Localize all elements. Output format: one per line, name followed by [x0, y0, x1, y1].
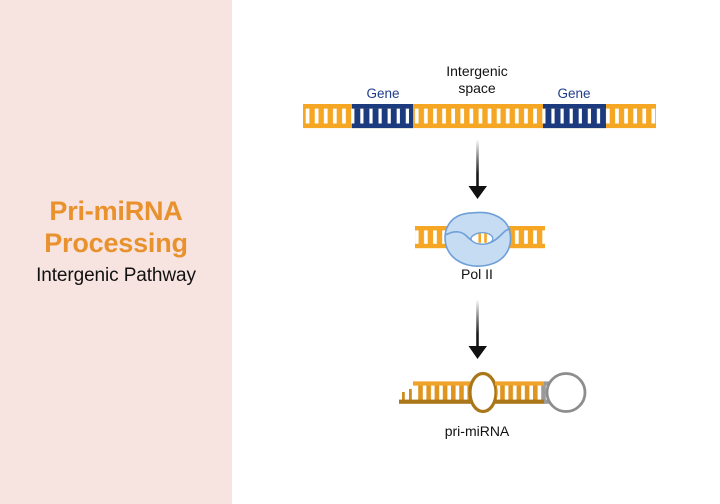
gene-label-right: Gene [557, 86, 590, 101]
dna-gene-block-left [352, 106, 413, 126]
arm-right-rungs [496, 384, 542, 402]
gene-label-left: Gene [366, 86, 399, 101]
arrow-processing [469, 300, 488, 359]
step-genomic-dna: Intergenic space Gene Gene [303, 63, 656, 128]
overhang-rung-2 [409, 389, 412, 401]
dna-rail-top-gene-left [352, 104, 413, 109]
arm-right-rail-bottom [495, 400, 545, 404]
step-pri-mirna: pri-miRNA [399, 374, 585, 440]
dna-double-strand [303, 104, 656, 128]
pol-ii-active-site-rung-b [484, 233, 487, 242]
dna-rail-bottom-gene-right [543, 124, 606, 129]
arrow-transcription-head [469, 186, 488, 199]
figure-root: Pri-miRNA Processing Intergenic Pathway [0, 0, 720, 504]
pri-mirna-internal-loop [470, 374, 496, 412]
arm-left-rail-top [413, 381, 471, 385]
pol-ii-active-site-rung-a [478, 234, 481, 243]
arrow-transcription-shaft [476, 140, 479, 188]
arrow-processing-shaft [476, 300, 479, 348]
pri-mirna-left-overhang [402, 389, 412, 401]
pol-ii-label: Pol II [461, 266, 493, 282]
pol-ii-active-site [471, 233, 493, 244]
pol-ii-polymerase [445, 212, 511, 266]
arrow-processing-head [469, 346, 488, 359]
step-transcription: Pol II [415, 212, 545, 282]
intergenic-space-label-line2: space [458, 80, 496, 96]
arrow-transcription [469, 140, 488, 199]
pri-mirna-label: pri-miRNA [445, 423, 510, 439]
dna-rail-top-gene-right [543, 104, 606, 109]
dna-gene-block-right [543, 106, 606, 126]
intergenic-space-label-line1: Intergenic [446, 63, 507, 79]
pri-mirna-terminal-loop [547, 374, 585, 412]
arm-left-rail-bottom [399, 400, 471, 404]
arm-right-rail-top [495, 381, 545, 385]
arm-left-rungs [415, 384, 471, 402]
dna-rail-bottom-gene-left [352, 124, 413, 129]
pri-mirna-arm-right [495, 381, 554, 403]
diagram-canvas: Intergenic space Gene Gene [0, 0, 720, 504]
